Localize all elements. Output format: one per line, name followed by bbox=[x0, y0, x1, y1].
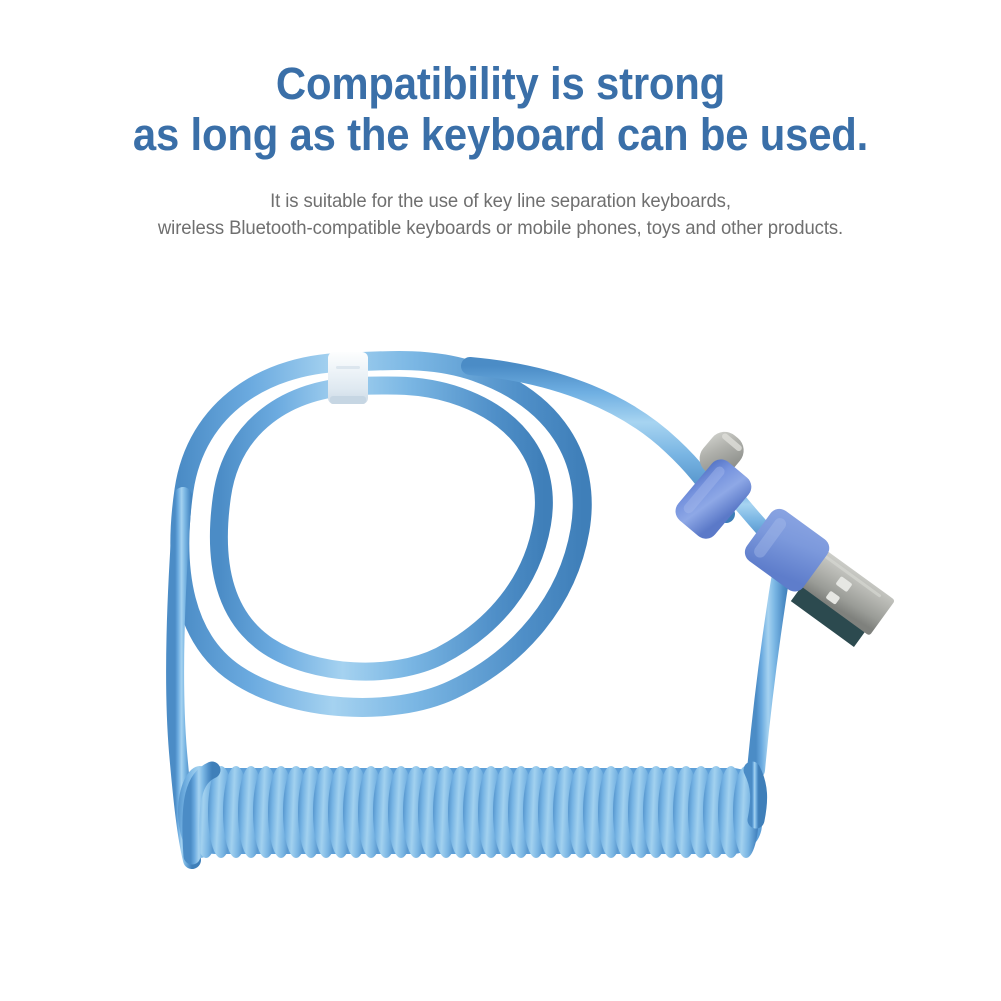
loop-inner-strand bbox=[219, 385, 544, 671]
marketing-copy: Compatibility is strong as long as the k… bbox=[0, 58, 1001, 242]
coiled-spring-section bbox=[178, 766, 762, 858]
subtitle-line-1: It is suitable for the use of key line s… bbox=[25, 188, 976, 215]
subtitle: It is suitable for the use of key line s… bbox=[25, 188, 976, 242]
usb-c-connector bbox=[671, 425, 757, 543]
headline-line-2: as long as the keyboard can be used. bbox=[35, 109, 966, 160]
velcro-strap bbox=[328, 352, 368, 404]
subtitle-line-2: wireless Bluetooth-compatible keyboards … bbox=[25, 215, 976, 242]
coil-right-exit bbox=[752, 770, 759, 820]
product-photo bbox=[0, 300, 1001, 920]
loop-outer-strand bbox=[180, 360, 582, 707]
copy-spacer bbox=[0, 160, 1001, 188]
page-title: Compatibility is strong as long as the k… bbox=[35, 58, 966, 160]
product-feature-image: Compatibility is strong as long as the k… bbox=[0, 0, 1001, 1001]
headline-line-1: Compatibility is strong bbox=[35, 58, 966, 109]
coil-rings bbox=[193, 766, 759, 858]
